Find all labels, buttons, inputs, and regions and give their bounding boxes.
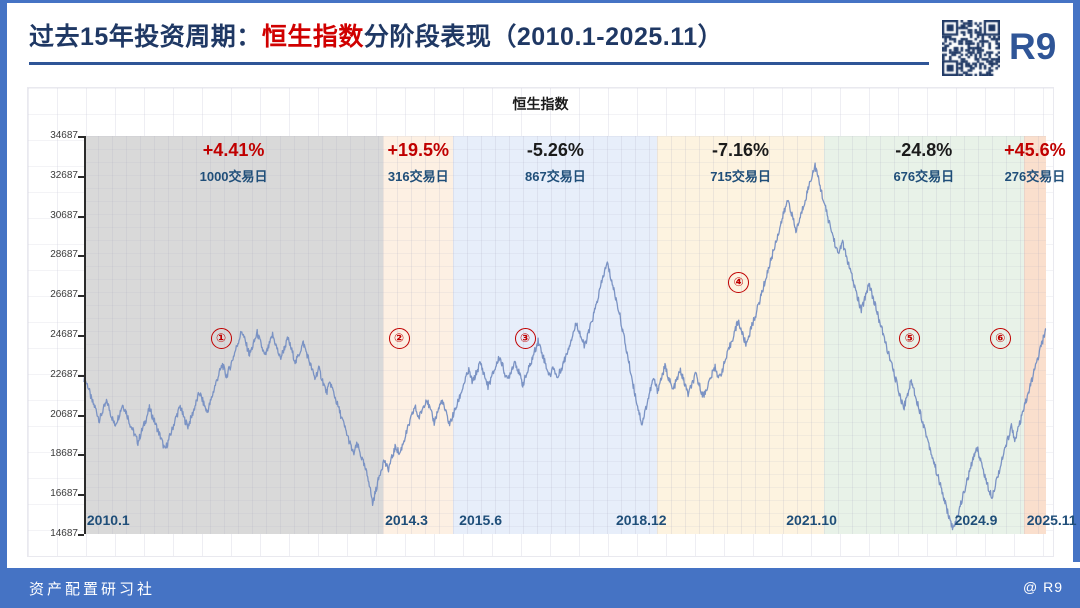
- footer-brand-text: 资产配置研习社: [29, 578, 155, 599]
- chart-plot-area: +4.41%1000交易日①+19.5%316交易日②-5.26%867交易日③…: [84, 136, 1046, 534]
- phase-1-duration: 1000交易日: [164, 166, 304, 185]
- slide-header: 过去15年投资周期：恒生指数分阶段表现（2010.1-2025.11） R9: [7, 3, 1073, 85]
- x-axis-date-1: 2010.1: [87, 512, 130, 528]
- y-axis-tick: [78, 216, 84, 218]
- y-axis-tick-label: 22687: [28, 369, 78, 380]
- y-axis-tick: [78, 136, 84, 138]
- y-axis-tick: [78, 534, 84, 536]
- x-axis-date-6: 2024.9: [955, 512, 998, 528]
- y-axis-tick-label: 30687: [28, 210, 78, 221]
- x-axis-date-5: 2021.10: [786, 512, 837, 528]
- y-axis-tick: [78, 255, 84, 257]
- y-axis-tick: [78, 375, 84, 377]
- phase-3-return: -5.26%: [485, 140, 625, 161]
- y-axis: [84, 136, 86, 534]
- x-axis-date-7: 2025.11: [1027, 512, 1077, 528]
- phase-6-return: +45.6%: [965, 140, 1080, 161]
- y-axis-tick: [78, 335, 84, 337]
- x-axis-date-4: 2018.12: [616, 512, 667, 528]
- phase-1-marker: ①: [211, 328, 232, 349]
- phase-4-marker: ④: [728, 272, 749, 293]
- slide-footer: 资产配置研习社 @ R9: [7, 568, 1080, 608]
- y-axis-tick-label: 24687: [28, 329, 78, 340]
- x-axis-date-2: 2014.3: [385, 512, 428, 528]
- footer-handle-text: @ R9: [1023, 579, 1063, 595]
- phase-4-duration: 715交易日: [671, 166, 811, 185]
- slide-root: 过去15年投资周期：恒生指数分阶段表现（2010.1-2025.11） R9 恒…: [0, 0, 1080, 608]
- page-title-prefix: 过去15年投资周期：: [29, 23, 262, 51]
- chart-card: 恒生指数 +4.41%1000交易日①+19.5%316交易日②-5.26%86…: [27, 87, 1054, 557]
- y-axis-tick-label: 20687: [28, 409, 78, 420]
- brand-block: R9: [937, 17, 1065, 79]
- x-axis-date-3: 2015.6: [459, 512, 502, 528]
- page-title-suffix: 分阶段表现: [364, 23, 492, 51]
- y-axis-tick-label: 28687: [28, 249, 78, 260]
- y-axis-tick-label: 26687: [28, 289, 78, 300]
- phase-3-duration: 867交易日: [485, 166, 625, 185]
- brand-label: R9: [1009, 25, 1056, 69]
- y-axis-tick-label: 32687: [28, 170, 78, 181]
- y-axis-tick-label: 16687: [28, 488, 78, 499]
- phase-6-marker: ⑥: [990, 328, 1011, 349]
- y-axis-tick: [78, 494, 84, 496]
- page-title-highlight: 恒生指数: [262, 23, 364, 51]
- title-divider: [29, 62, 929, 65]
- phase-3-marker: ③: [515, 328, 536, 349]
- page-title-range: （2010.1-2025.11）: [491, 23, 723, 51]
- chart-title: 恒生指数: [28, 94, 1053, 114]
- qr-code-icon: [942, 20, 1000, 76]
- page-title: 过去15年投资周期：恒生指数分阶段表现（2010.1-2025.11）: [29, 17, 723, 53]
- phase-2-return: +19.5%: [348, 140, 488, 161]
- phase-2-duration: 316交易日: [348, 166, 488, 185]
- y-axis-tick: [78, 295, 84, 297]
- phase-4-return: -7.16%: [671, 140, 811, 161]
- y-axis-tick-label: 34687: [28, 130, 78, 141]
- y-axis-tick: [78, 454, 84, 456]
- y-axis-tick: [78, 176, 84, 178]
- y-axis-tick-label: 14687: [28, 528, 78, 539]
- phase-2-marker: ②: [389, 328, 410, 349]
- phase-6-duration: 276交易日: [965, 166, 1080, 185]
- y-axis-tick-label: 18687: [28, 448, 78, 459]
- y-axis-tick: [78, 415, 84, 417]
- phase-1-return: +4.41%: [164, 140, 304, 161]
